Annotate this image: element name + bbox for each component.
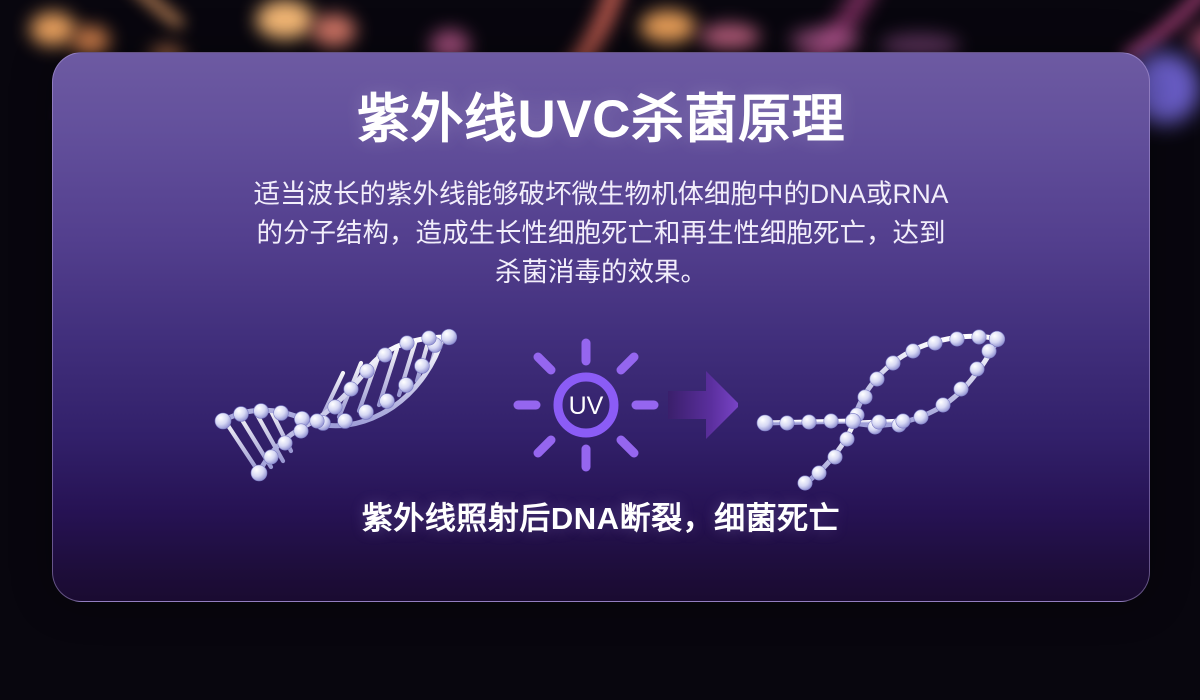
right-arrow-icon xyxy=(668,371,738,439)
page-title: 紫外线UVC杀菌原理 xyxy=(53,93,1149,146)
bokeh-dot xyxy=(312,14,356,48)
bokeh-dot xyxy=(640,10,696,44)
uv-sun-icon: UV xyxy=(518,343,654,467)
description-line-2: 的分子结构，造成生长性细胞死亡和再生性细胞死亡，达到 xyxy=(173,214,1029,253)
broken-dna-icon xyxy=(753,311,1023,491)
description-block: 适当波长的紫外线能够破坏微生物机体细胞中的DNA或RNA 的分子结构，造成生长性… xyxy=(173,175,1029,292)
bokeh-dot xyxy=(256,0,314,40)
content-card: 紫外线UVC杀菌原理 适当波长的紫外线能够破坏微生物机体细胞中的DNA或RNA … xyxy=(52,52,1150,602)
illustration-row: UV xyxy=(53,311,1149,491)
intact-dna-icon xyxy=(203,311,473,491)
illustration-caption: 紫外线照射后DNA断裂，细菌死亡 xyxy=(53,493,1149,538)
bokeh-dot xyxy=(700,24,760,50)
bokeh-dot xyxy=(30,12,76,46)
poster-stage: 紫外线UVC杀菌原理 适当波长的紫外线能够破坏微生物机体细胞中的DNA或RNA … xyxy=(0,0,1200,700)
description-line-1: 适当波长的紫外线能够破坏微生物机体细胞中的DNA或RNA xyxy=(173,175,1029,214)
bokeh-dot xyxy=(790,28,860,54)
uv-label: UV xyxy=(569,392,604,420)
uv-arrow-group: UV xyxy=(478,321,738,481)
description-line-3: 杀菌消毒的效果。 xyxy=(173,253,1029,292)
